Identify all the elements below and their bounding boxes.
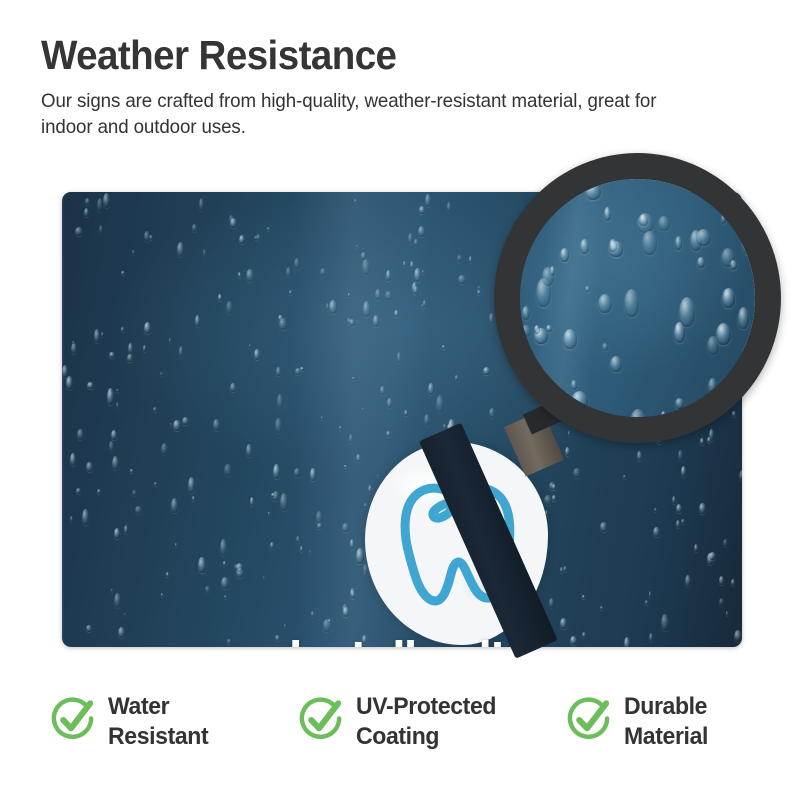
check-circle-icon bbox=[298, 696, 345, 743]
brand-wordmark: dentalhealth bbox=[124, 637, 684, 647]
feature-item-uv-protected-coating: UV-Protected Coating bbox=[298, 692, 566, 752]
feature-list: Water Resistant UV-Protected Coating Dur… bbox=[50, 692, 762, 752]
header-block: Weather Resistance Our signs are crafted… bbox=[41, 34, 701, 140]
check-circle-icon bbox=[50, 696, 97, 743]
page-subtitle: Our signs are crafted from high-quality,… bbox=[41, 88, 694, 140]
check-circle-icon bbox=[566, 696, 613, 743]
sign-product-image: dentalhealth ENTER HERE bbox=[62, 192, 742, 647]
feature-label: Durable Material bbox=[624, 692, 708, 752]
tooth-icon bbox=[387, 470, 527, 620]
product-feature-panel: Weather Resistance Our signs are crafted… bbox=[0, 0, 804, 804]
feature-item-durable-material: Durable Material bbox=[566, 692, 762, 752]
feature-item-water-resistant: Water Resistant bbox=[50, 692, 298, 752]
page-title: Weather Resistance bbox=[41, 34, 661, 77]
feature-label: Water Resistant bbox=[108, 692, 208, 752]
brand-logo-badge bbox=[365, 442, 548, 645]
feature-label: UV-Protected Coating bbox=[356, 692, 496, 752]
